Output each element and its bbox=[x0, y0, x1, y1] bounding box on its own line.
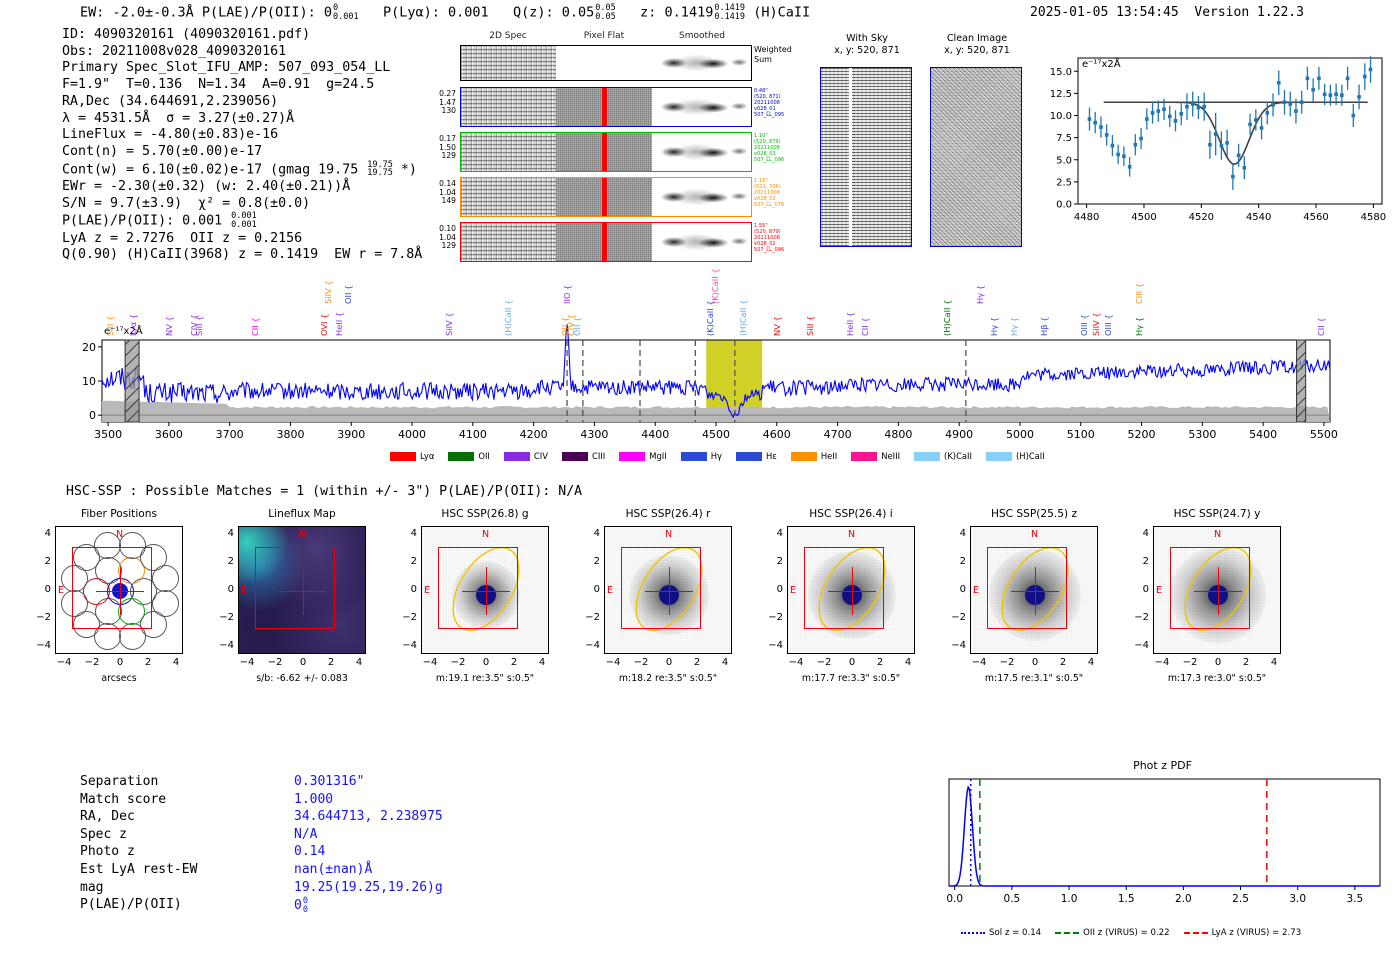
cutout-title-0: With Skyx, y: 520, 871 bbox=[812, 33, 922, 56]
match-key-2: RA, Dec bbox=[80, 809, 292, 825]
cutout-ytick-4-1: −2 bbox=[763, 612, 783, 623]
spectrum-line-label-28: OIII { bbox=[1079, 278, 1089, 336]
cutout-image-1 bbox=[930, 67, 1022, 247]
svg-text:0.0: 0.0 bbox=[946, 893, 963, 905]
match-key-0: Separation bbox=[80, 774, 292, 790]
twod-row-trace-marker-3 bbox=[602, 223, 607, 261]
cutout-ytick-5-4: 4 bbox=[946, 528, 966, 539]
svg-text:4300: 4300 bbox=[580, 428, 608, 441]
z-fraction: 0.14190.1419 bbox=[714, 4, 745, 21]
cutout-ytick-2-3: 2 bbox=[397, 556, 417, 567]
cutout-ytick-1-1: −2 bbox=[214, 612, 234, 623]
svg-text:15.0: 15.0 bbox=[1050, 67, 1072, 78]
spectrum-line-label-19: NV { bbox=[772, 278, 782, 336]
svg-text:10.0: 10.0 bbox=[1050, 111, 1072, 122]
cutout-name-1: Clean Image bbox=[922, 33, 1032, 45]
phot-z-legend-line-0 bbox=[961, 932, 985, 934]
svg-text:5000: 5000 bbox=[1006, 428, 1034, 441]
header-plya: P(Lyα): 0.001 bbox=[383, 5, 489, 21]
cutout-ytick-5-0: −4 bbox=[946, 640, 966, 651]
match-value-4: 0.14 bbox=[294, 844, 443, 860]
twod-row-meta-1: 1.10"(520, 879)20211008v028_03507_LL_096 bbox=[754, 133, 806, 163]
cutout-xtick-1-1: −2 bbox=[265, 657, 285, 668]
legend-label-CIII: CIII bbox=[592, 451, 605, 461]
svg-text:3800: 3800 bbox=[276, 428, 304, 441]
cutout-ytick-4-0: −4 bbox=[763, 640, 783, 651]
legend-item-NeIII: NeIII bbox=[851, 451, 900, 461]
cutout-image-0 bbox=[820, 67, 912, 247]
svg-text:4400: 4400 bbox=[641, 428, 669, 441]
svg-text:4000: 4000 bbox=[398, 428, 426, 441]
cutout-xtick-1-0: −4 bbox=[237, 657, 257, 668]
spectrum-line-label-21: HeII { bbox=[845, 278, 855, 336]
aperture-rect-2 bbox=[438, 547, 518, 629]
legend-label-(K)CaII: (K)CaII bbox=[944, 451, 972, 461]
twod-row-2dspec-2 bbox=[461, 178, 556, 216]
twod-cell-smoothed bbox=[652, 46, 751, 80]
cutout-xtick-3-3: 2 bbox=[687, 657, 707, 668]
legend-label-MgII: MgII bbox=[649, 451, 666, 461]
match-table-row: Est LyA rest-EWnan(±nan)Å bbox=[80, 862, 443, 878]
match-value-1: 1.000 bbox=[294, 792, 443, 808]
info-line-0: ID: 4090320161 (4090320161.pdf) bbox=[62, 27, 422, 44]
legend-swatch-OII bbox=[448, 452, 474, 461]
cutout-ytick-0-3: 2 bbox=[31, 556, 51, 567]
cutout-panel-title-3: HSC SSP(26.4) r bbox=[584, 508, 752, 520]
svg-text:4700: 4700 bbox=[824, 428, 852, 441]
svg-text:4580: 4580 bbox=[1361, 212, 1386, 223]
header-timestamp-version: 2025-01-05 13:54:45 Version 1.22.3 bbox=[1030, 5, 1304, 20]
match-key-3: Spec z bbox=[80, 827, 292, 843]
cutout-xtick-5-0: −4 bbox=[969, 657, 989, 668]
legend-swatch-Hγ bbox=[681, 452, 707, 461]
svg-text:0.5: 0.5 bbox=[1004, 893, 1021, 905]
svg-text:3900: 3900 bbox=[337, 428, 365, 441]
cutout-ytick-5-1: −2 bbox=[946, 612, 966, 623]
spectrum-line-label-8: SiIV { bbox=[323, 246, 333, 304]
match-table-row: mag19.25(19.25,19.26)g bbox=[80, 880, 443, 896]
compass-north-6: N bbox=[1214, 529, 1221, 540]
line-profile-flux-units: e⁻¹⁷x2Å bbox=[1082, 59, 1121, 70]
legend-item-Lyα: Lyα bbox=[390, 451, 434, 461]
svg-text:0: 0 bbox=[89, 409, 96, 422]
twod-row-left-label-0-2: 130 bbox=[430, 107, 456, 116]
twod-row-2dspec-1 bbox=[461, 133, 556, 171]
cutout-ytick-3-2: 0 bbox=[580, 584, 600, 595]
cutout-ytick-0-1: −2 bbox=[31, 612, 51, 623]
crosshair-vertical-0 bbox=[120, 567, 121, 615]
match-value-6: 19.25(19.25,19.26)g bbox=[294, 880, 443, 896]
aperture-rect-4 bbox=[804, 547, 884, 629]
phot-z-pdf-chart: 0.00.51.01.52.02.53.03.5Phot z PDFSol z … bbox=[935, 757, 1390, 912]
legend-item-MgII: MgII bbox=[619, 451, 666, 461]
svg-text:2.5: 2.5 bbox=[1232, 893, 1249, 905]
twod-row-left-label-1-2: 129 bbox=[430, 152, 456, 161]
legend-item-OII: OII bbox=[448, 451, 490, 461]
cutout-xtick-5-4: 4 bbox=[1081, 657, 1101, 668]
cutout-xtick-3-2: 0 bbox=[659, 657, 679, 668]
spectrum-line-label-22: CII { bbox=[860, 278, 870, 336]
cutout-panel-4[interactable]: NE bbox=[787, 526, 915, 654]
cutout-panel-title-5: HSC SSP(25.5) z bbox=[950, 508, 1118, 520]
cutout-xtick-6-2: 0 bbox=[1208, 657, 1228, 668]
legend-label-OII: OII bbox=[478, 451, 490, 461]
plae-fraction: 00.001 bbox=[333, 4, 359, 21]
twod-row-meta-line-3-4: 507_LL_096 bbox=[754, 247, 806, 253]
cutout-ytick-5-2: 0 bbox=[946, 584, 966, 595]
svg-text:4540: 4540 bbox=[1246, 212, 1271, 223]
phot-z-legend-item-2: LyA z (VIRUS) = 2.73 bbox=[1184, 928, 1302, 938]
match-table-row: Match score1.000 bbox=[80, 792, 443, 808]
cutout-xtick-5-1: −2 bbox=[997, 657, 1017, 668]
cutout-xtick-4-1: −2 bbox=[814, 657, 834, 668]
cutout-panel-title-4: HSC SSP(26.4) i bbox=[767, 508, 935, 520]
image-cutouts-panel: With Skyx, y: 520, 871Clean Imagex, y: 5… bbox=[812, 33, 1022, 248]
compass-east-3: E bbox=[607, 585, 613, 596]
info-line-3: F=1.9" T=0.136 N=1.34 A=0.91 g=24.5 bbox=[62, 77, 422, 94]
spectrum-line-label-2: NV { bbox=[164, 278, 174, 336]
qz-fraction: 0.050.05 bbox=[595, 4, 615, 21]
spectrum-line-label-17: (K)CaII { bbox=[710, 246, 720, 304]
spectrum-line-label-11: (H)CaII { bbox=[503, 278, 513, 336]
line-profile-chart: 0.02.55.07.510.012.515.04480450045204540… bbox=[1032, 44, 1390, 240]
legend-swatch-(K)CaII bbox=[914, 452, 940, 461]
match-table-row: Separation0.301316" bbox=[80, 774, 443, 790]
match-key-1: Match score bbox=[80, 792, 292, 808]
cutout-caption-3: m:18.2 re:3.5" s:0.5" bbox=[574, 673, 762, 684]
legend-item-(K)CaII: (K)CaII bbox=[914, 451, 972, 461]
aperture-rect-5 bbox=[987, 547, 1067, 629]
svg-text:4500: 4500 bbox=[1131, 212, 1156, 223]
svg-text:1.5: 1.5 bbox=[1118, 893, 1135, 905]
header-qz: Q(z): 0.05 bbox=[513, 5, 594, 21]
cutout-xtick-2-3: 2 bbox=[504, 657, 524, 668]
header-z-suffix: (H)CaII bbox=[753, 5, 810, 21]
cutout-xtick-6-3: 2 bbox=[1236, 657, 1256, 668]
compass-east-4: E bbox=[790, 585, 796, 596]
legend-label-Hε: Hε bbox=[766, 451, 777, 461]
spectrum-line-label-23: (H)CaII { bbox=[942, 278, 952, 336]
match-value-0: 0.301316" bbox=[294, 774, 443, 790]
info-line-4: RA,Dec (34.644691,2.239056) bbox=[62, 94, 422, 111]
match-table-row: Photo z0.14 bbox=[80, 844, 443, 860]
match-value-5: nan(±nan)Å bbox=[294, 862, 443, 878]
cutout-ytick-0-4: 4 bbox=[31, 528, 51, 539]
svg-text:0.0: 0.0 bbox=[1056, 200, 1072, 211]
info-line-6: LineFlux = -4.80(±0.83)e-16 bbox=[62, 127, 422, 144]
cutout-xtick-2-2: 0 bbox=[476, 657, 496, 668]
cutout-caption-2: m:19.1 re:3.5" s:0.5" bbox=[391, 673, 579, 684]
compass-east-6: E bbox=[1156, 585, 1162, 596]
svg-text:3.5: 3.5 bbox=[1346, 893, 1363, 905]
match-key-6: mag bbox=[80, 880, 292, 896]
twod-row-meta-line-0-4: 507_LL_095 bbox=[754, 112, 806, 118]
svg-text:4520: 4520 bbox=[1189, 212, 1214, 223]
legend-swatch-MgII bbox=[619, 452, 645, 461]
twod-row-meta-2: 1.16"(521, 706)20211008v028_02507_LL_076 bbox=[754, 178, 806, 208]
twod-column-title-2: Smoothed bbox=[652, 31, 752, 41]
twod-row-trace-marker-0 bbox=[602, 88, 607, 126]
cutout-ytick-1-2: 0 bbox=[214, 584, 234, 595]
cutout-ytick-3-1: −2 bbox=[580, 612, 600, 623]
svg-text:4560: 4560 bbox=[1303, 212, 1328, 223]
match-properties-table: Separation0.301316"Match score1.000RA, D… bbox=[78, 772, 445, 916]
legend-swatch-CIV bbox=[504, 452, 530, 461]
info-line-11: P(LAE)/P(OII): 0.001 0.0010.001 bbox=[62, 212, 422, 230]
spectrum-line-label-33: CII { bbox=[1316, 278, 1326, 336]
svg-text:2.5: 2.5 bbox=[1056, 177, 1072, 188]
legend-swatch-Hε bbox=[736, 452, 762, 461]
twod-spec-row-3 bbox=[460, 222, 752, 262]
twod-row-left-labels-3: 0.101.04129 bbox=[430, 225, 456, 251]
twod-cell-pixelflat bbox=[556, 46, 651, 80]
cutout-ytick-6-1: −2 bbox=[1129, 612, 1149, 623]
cutout-title-1: Clean Imagex, y: 520, 871 bbox=[922, 33, 1032, 56]
match-value-7: 000 bbox=[294, 897, 443, 914]
spectrum-line-label-27: Hβ { bbox=[1039, 278, 1049, 336]
twod-weighted-sum-label: Weighted Sum bbox=[754, 45, 792, 64]
crosshair-vertical-5 bbox=[1035, 567, 1036, 615]
svg-text:3700: 3700 bbox=[216, 428, 244, 441]
match-table-row: P(LAE)/P(OII)000 bbox=[80, 897, 443, 914]
header-z: z: 0.1419 bbox=[640, 5, 713, 21]
legend-label-NeIII: NeIII bbox=[881, 451, 900, 461]
cutout-xtick-5-3: 2 bbox=[1053, 657, 1073, 668]
legend-item-Hε: Hε bbox=[736, 451, 777, 461]
twod-row-pixelflat-0 bbox=[556, 88, 651, 126]
cutout-xtick-0-1: −2 bbox=[82, 657, 102, 668]
cutout-ytick-2-1: −2 bbox=[397, 612, 417, 623]
phot-z-legend-line-1 bbox=[1055, 932, 1079, 934]
svg-text:1.0: 1.0 bbox=[1061, 893, 1078, 905]
cutout-caption-1: s/b: -6.62 +/- 0.083 bbox=[208, 673, 396, 684]
version-text: Version 1.22.3 bbox=[1194, 5, 1304, 20]
cutout-ytick-6-2: 0 bbox=[1129, 584, 1149, 595]
crosshair-vertical-3 bbox=[669, 567, 670, 615]
info-plae-fraction: 0.0010.001 bbox=[231, 212, 257, 229]
legend-item-Hγ: Hγ bbox=[681, 451, 722, 461]
twod-row-left-label-3-2: 129 bbox=[430, 242, 456, 251]
cutout-panel-2[interactable]: NE bbox=[421, 526, 549, 654]
twod-row-pixelflat-1 bbox=[556, 133, 651, 171]
cutout-ytick-4-3: 2 bbox=[763, 556, 783, 567]
match-plae-fraction: 00 bbox=[303, 897, 308, 914]
info-line-9: EWr = -2.30(±0.32) (w: 2.40(±0.21))Å bbox=[62, 179, 422, 196]
aperture-rect-6 bbox=[1170, 547, 1250, 629]
cutout-xtick-1-2: 0 bbox=[293, 657, 313, 668]
compass-north-1: N bbox=[299, 529, 306, 540]
twod-row-left-labels-1: 0.171.50129 bbox=[430, 135, 456, 161]
info-line-7: Cont(n) = 5.70(±0.00)e-17 bbox=[62, 144, 422, 161]
cutout-panel-title-0: Fiber Positions bbox=[35, 508, 203, 520]
phot-z-legend-item-0: Sol z = 0.14 bbox=[961, 928, 1041, 938]
spectrum-line-label-5: CII { bbox=[250, 278, 260, 336]
cutout-panel-5[interactable]: NE bbox=[970, 526, 1098, 654]
cutout-panel-1[interactable]: NE bbox=[238, 526, 366, 654]
cutout-xtick-2-4: 4 bbox=[532, 657, 552, 668]
match-key-5: Est LyA rest-EW bbox=[80, 862, 292, 878]
info-line-12: LyA z = 2.7276 OII z = 0.2156 bbox=[62, 231, 422, 248]
cutout-xtick-6-1: −2 bbox=[1180, 657, 1200, 668]
cutout-xtick-4-2: 0 bbox=[842, 657, 862, 668]
phot-z-title: Phot z PDF bbox=[935, 759, 1390, 772]
twod-weighted-sum-row bbox=[460, 45, 752, 81]
header-summary-line: EW: -2.0±-0.3Å P(LAE)/P(OII): 000.001 P(… bbox=[80, 4, 810, 21]
cutout-xtick-0-0: −4 bbox=[54, 657, 74, 668]
match-value-2: 34.644713, 2.238975 bbox=[294, 809, 443, 825]
cutout-ytick-0-0: −4 bbox=[31, 640, 51, 651]
compass-east-5: E bbox=[973, 585, 979, 596]
source-info-block: ID: 4090320161 (4090320161.pdf)Obs: 2021… bbox=[62, 27, 422, 264]
match-key-7: P(LAE)/P(OII) bbox=[80, 897, 292, 914]
twod-row-meta-0: 0.48"(520, 871)20211008v028_01507_LL_095 bbox=[754, 88, 806, 118]
spectrum-legend: LyαOIICIVCIIIMgIIHγHεHeIINeIII(K)CaII(H)… bbox=[390, 444, 1059, 463]
cutout-xtick-4-0: −4 bbox=[786, 657, 806, 668]
cutout-ytick-4-4: 4 bbox=[763, 528, 783, 539]
svg-text:12.5: 12.5 bbox=[1050, 89, 1072, 100]
twod-row-trace-marker-2 bbox=[602, 178, 607, 216]
cutout-ytick-6-4: 4 bbox=[1129, 528, 1149, 539]
aperture-rect-1 bbox=[255, 547, 335, 629]
header-ew-plae: EW: -2.0±-0.3Å P(LAE)/P(OII): 0 bbox=[80, 5, 332, 21]
svg-text:10: 10 bbox=[82, 375, 96, 388]
cutout-panel-0[interactable]: NE bbox=[55, 526, 183, 654]
twod-row-trace-marker-1 bbox=[602, 133, 607, 171]
cutout-ytick-6-3: 2 bbox=[1129, 556, 1149, 567]
phot-z-legend-label-2: LyA z (VIRUS) = 2.73 bbox=[1212, 928, 1302, 938]
svg-text:3500: 3500 bbox=[94, 428, 122, 441]
legend-label-Lyα: Lyα bbox=[420, 451, 434, 461]
cutout-ytick-1-4: 4 bbox=[214, 528, 234, 539]
aperture-rect-0 bbox=[72, 547, 152, 629]
cutout-coords-0: x, y: 520, 871 bbox=[812, 45, 922, 57]
cutout-xtick-1-3: 2 bbox=[321, 657, 341, 668]
svg-text:5200: 5200 bbox=[1128, 428, 1156, 441]
spectrum-line-label-29: SiIV { bbox=[1091, 278, 1101, 336]
cutout-xtick-0-3: 2 bbox=[138, 657, 158, 668]
match-table-row: Spec zN/A bbox=[80, 827, 443, 843]
cutout-panel-title-1: Lineflux Map bbox=[218, 508, 386, 520]
cutout-ytick-6-0: −4 bbox=[1129, 640, 1149, 651]
cutout-xtick-3-1: −2 bbox=[631, 657, 651, 668]
svg-text:5100: 5100 bbox=[1067, 428, 1095, 441]
legend-item-CIV: CIV bbox=[504, 451, 548, 461]
phot-z-legend-line-2 bbox=[1184, 932, 1208, 934]
compass-north-2: N bbox=[482, 529, 489, 540]
cutout-ytick-2-2: 0 bbox=[397, 584, 417, 595]
cutout-xtick-6-4: 4 bbox=[1264, 657, 1284, 668]
hsc-heading: HSC-SSP : Possible Matches = 1 (within +… bbox=[66, 484, 582, 499]
compass-north-3: N bbox=[665, 529, 672, 540]
cutout-xtick-5-2: 0 bbox=[1025, 657, 1045, 668]
twod-cell-2dspec bbox=[461, 46, 556, 80]
spectrum-line-label-30: OIII { bbox=[1103, 278, 1113, 336]
spectrum-line-label-9: OII { bbox=[343, 246, 353, 304]
svg-text:3.0: 3.0 bbox=[1289, 893, 1306, 905]
cutout-xtick-0-4: 4 bbox=[166, 657, 186, 668]
spectrum-line-label-32: Hγ { bbox=[1134, 278, 1144, 336]
phot-z-legend-label-0: Sol z = 0.14 bbox=[989, 928, 1041, 938]
svg-text:4100: 4100 bbox=[459, 428, 487, 441]
cutout-ytick-1-0: −4 bbox=[214, 640, 234, 651]
legend-label-HeII: HeII bbox=[821, 451, 837, 461]
full-spectrum-chart: 0102035003600370038003900400041004200430… bbox=[60, 262, 1340, 472]
legend-item-CIII: CIII bbox=[562, 451, 605, 461]
info-line-2: Primary Spec_Slot_IFU_AMP: 507_093_054_L… bbox=[62, 60, 422, 77]
cutout-ytick-4-2: 0 bbox=[763, 584, 783, 595]
spectrum-line-label-20: SiII { bbox=[805, 278, 815, 336]
twod-spec-row-1 bbox=[460, 132, 752, 172]
twod-row-meta-line-2-4: 507_LL_076 bbox=[754, 202, 806, 208]
crosshair-vertical-6 bbox=[1218, 567, 1219, 615]
timestamp-text: 2025-01-05 13:54:45 bbox=[1030, 5, 1179, 20]
svg-text:3600: 3600 bbox=[155, 428, 183, 441]
spectrum-line-label-24: Hγ { bbox=[989, 278, 999, 336]
crosshair-vertical-2 bbox=[486, 567, 487, 615]
cutout-name-0: With Sky bbox=[812, 33, 922, 45]
svg-text:4200: 4200 bbox=[520, 428, 548, 441]
cutout-ytick-2-4: 4 bbox=[397, 528, 417, 539]
match-key-4: Photo z bbox=[80, 844, 292, 860]
twod-row-left-label-2-2: 149 bbox=[430, 197, 456, 206]
cutout-xtick-4-4: 4 bbox=[898, 657, 918, 668]
cutout-ytick-3-0: −4 bbox=[580, 640, 600, 651]
twod-row-left-labels-0: 0.271.47130 bbox=[430, 90, 456, 116]
spectrum-line-label-14: OII { bbox=[572, 278, 582, 336]
twod-row-smoothed-1 bbox=[652, 133, 751, 171]
cutout-caption-5: m:17.5 re:3.1" s:0.5" bbox=[940, 673, 1128, 684]
twod-row-smoothed-2 bbox=[652, 178, 751, 216]
legend-item-HeII: HeII bbox=[791, 451, 837, 461]
legend-label-(H)CaII: (H)CaII bbox=[1016, 451, 1045, 461]
cutout-ytick-5-3: 2 bbox=[946, 556, 966, 567]
info-line-10: S/N = 9.7(±3.9) χ² = 0.8(±0.0) bbox=[62, 196, 422, 213]
spectrum-line-label-0: SiII { bbox=[105, 278, 115, 336]
svg-text:4500: 4500 bbox=[702, 428, 730, 441]
cutout-panel-3[interactable]: NE bbox=[604, 526, 732, 654]
crosshair-vertical-1 bbox=[303, 567, 304, 615]
cutout-grid: Fiber PositionsNE−4−2024−4−2024arcsecsLi… bbox=[0, 508, 1400, 723]
compass-east-0: E bbox=[58, 585, 64, 596]
cutout-caption-4: m:17.7 re:3.3" s:0.5" bbox=[757, 673, 945, 684]
spectrum-line-label-18: (H)CaII { bbox=[738, 278, 748, 336]
twod-row-left-labels-2: 0.141.04149 bbox=[430, 180, 456, 206]
twod-column-title-1: Pixel Flat bbox=[556, 31, 652, 41]
info-line-5: λ = 4531.5Å σ = 3.27(±0.27)Å bbox=[62, 111, 422, 128]
svg-text:5.0: 5.0 bbox=[1056, 155, 1072, 166]
cutout-coords-1: x, y: 520, 871 bbox=[922, 45, 1032, 57]
phot-z-legend: Sol z = 0.14OII z (VIRUS) = 0.22LyA z (V… bbox=[961, 920, 1315, 939]
cutout-panel-6[interactable]: NE bbox=[1153, 526, 1281, 654]
cutout-ytick-3-3: 2 bbox=[580, 556, 600, 567]
spectrum-line-label-15: IIO { bbox=[562, 246, 572, 304]
cutout-ytick-1-3: 2 bbox=[214, 556, 234, 567]
twod-column-title-0: 2D Spec bbox=[460, 31, 556, 41]
svg-text:2.0: 2.0 bbox=[1175, 893, 1192, 905]
compass-north-0: N bbox=[116, 529, 123, 540]
match-value-3: N/A bbox=[294, 827, 443, 843]
svg-text:7.5: 7.5 bbox=[1056, 133, 1072, 144]
svg-text:4900: 4900 bbox=[945, 428, 973, 441]
cutout-xtick-0-2: 0 bbox=[110, 657, 130, 668]
match-table-row: RA, Dec34.644713, 2.238975 bbox=[80, 809, 443, 825]
cutout-ytick-0-2: 0 bbox=[31, 584, 51, 595]
twod-row-2dspec-3 bbox=[461, 223, 556, 261]
spectrum-line-label-4: CIV { bbox=[189, 278, 199, 336]
spectrum-line-label-10: SiIV { bbox=[444, 278, 454, 336]
spectrum-line-label-26: Hγ { bbox=[1009, 278, 1019, 336]
legend-swatch-CIII bbox=[562, 452, 588, 461]
